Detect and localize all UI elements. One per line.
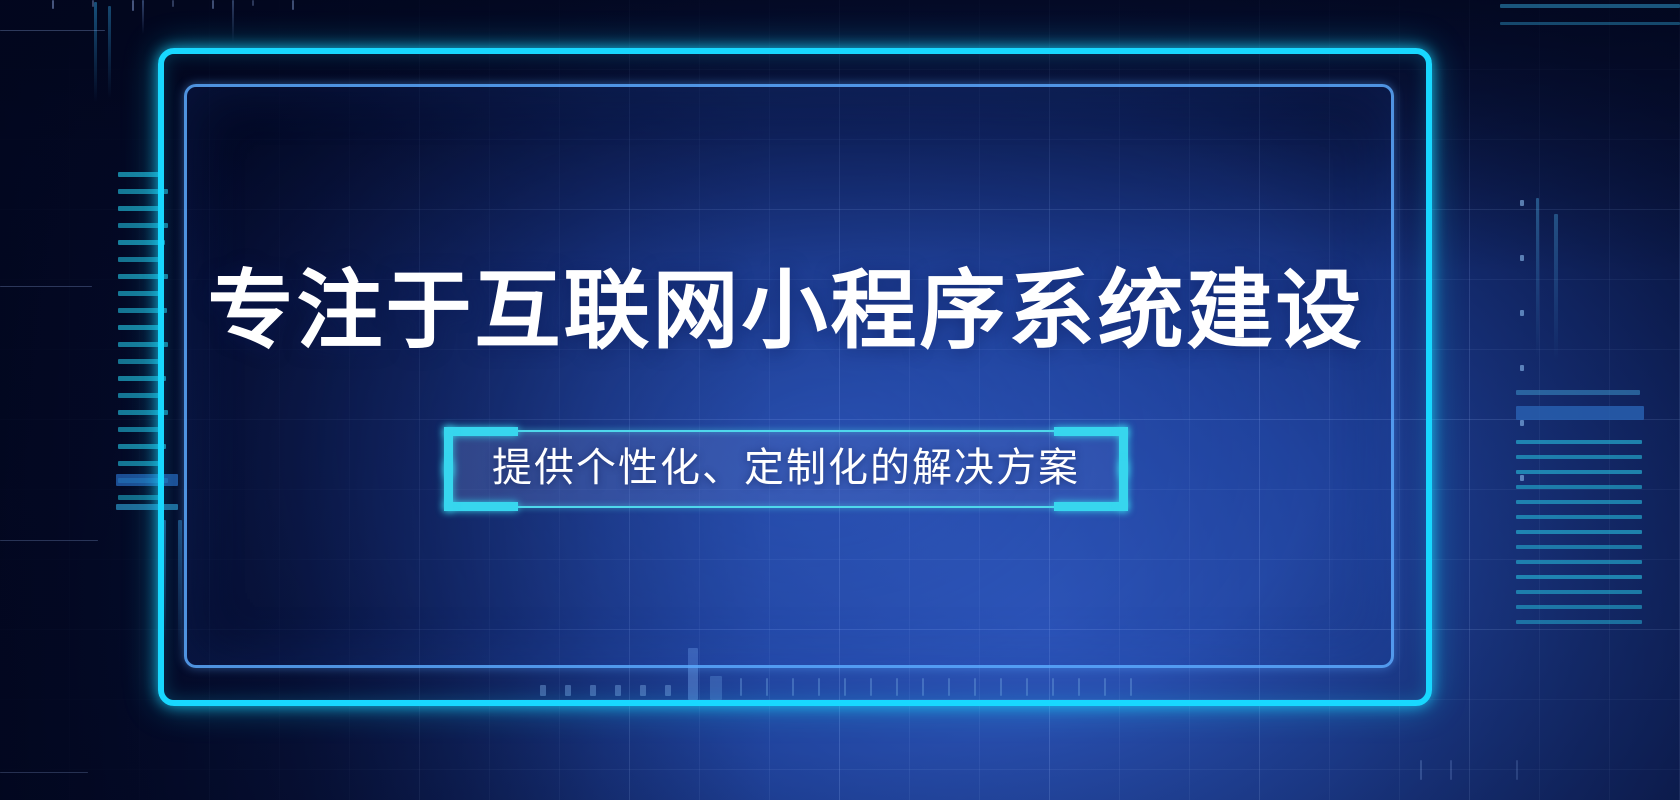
corner-bracket-bottom-left-v: [444, 461, 453, 511]
page-subtitle: 提供个性化、定制化的解决方案: [492, 446, 1080, 490]
page-title: 专注于互联网小程序系统建设: [208, 268, 1365, 354]
corner-bracket-bottom-right-v: [1119, 461, 1128, 511]
subtitle-rail-bottom: [452, 506, 1120, 508]
subtitle-rail-top: [452, 430, 1120, 432]
banner-stage: 专注于互联网小程序系统建设 提供个性化、定制化的解决方案: [0, 0, 1680, 800]
corner-bracket-top-right-h: [1054, 427, 1128, 436]
right-tick-marks: [1516, 440, 1646, 635]
subtitle-box: 提供个性化、定制化的解决方案: [452, 430, 1120, 508]
corner-bracket-bottom-right-h: [1054, 502, 1128, 511]
banner-content: 专注于互联网小程序系统建设 提供个性化、定制化的解决方案: [184, 84, 1388, 662]
corner-bracket-bottom-left-h: [444, 502, 518, 511]
corner-bracket-top-left-h: [444, 427, 518, 436]
